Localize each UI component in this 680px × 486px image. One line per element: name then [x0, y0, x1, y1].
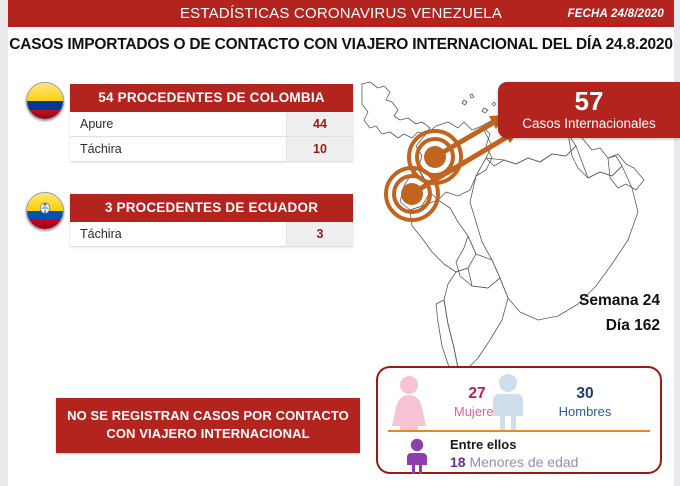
international-cases-box: 57 Casos Internacionales — [498, 82, 680, 138]
minors-intro: Entre ellos — [450, 436, 578, 453]
day-label: Día 162 — [579, 313, 660, 338]
ecuador-flag-icon — [26, 192, 64, 230]
no-contact-banner: NO SE REGISTRAN CASOS POR CONTACTO CON V… — [56, 398, 360, 453]
gender-divider — [388, 430, 650, 432]
minors-count: 18 — [450, 454, 466, 470]
state-name: Táchira — [70, 222, 286, 246]
header-bar: ESTADÍSTICAS CORONAVIRUS VENEZUELA FECHA… — [8, 0, 674, 27]
child-figure-icon — [402, 438, 432, 474]
table-row: Táchira 3 — [70, 222, 353, 246]
male-label: Hombres — [542, 403, 628, 420]
state-value: 44 — [286, 112, 353, 136]
page-subtitle: CASOS IMPORTADOS O DE CONTACTO CON VIAJE… — [8, 36, 674, 54]
table-row: Táchira 10 — [70, 137, 353, 161]
state-value: 3 — [286, 222, 353, 246]
table-colombia-heading: 54 PROCEDENTES DE COLOMBIA — [70, 84, 353, 112]
female-figure-icon — [386, 374, 432, 432]
minors-stat: Entre ellos 18 Menores de edad — [450, 436, 578, 472]
table-row: Apure 44 — [70, 112, 353, 137]
table-ecuador: 3 PROCEDENTES DE ECUADOR Táchira 3 — [70, 194, 353, 246]
state-value: 10 — [286, 137, 353, 161]
header-date: FECHA 24/8/2020 — [567, 8, 664, 20]
table-ecuador-heading: 3 PROCEDENTES DE ECUADOR — [70, 194, 353, 222]
ecuador-origin-marker — [386, 168, 438, 220]
male-count: 30 — [542, 384, 628, 403]
male-stat: 30 Hombres — [542, 384, 628, 420]
week-label: Semana 24 — [579, 288, 660, 313]
male-figure-icon — [486, 372, 530, 432]
international-cases-count: 57 — [575, 88, 604, 114]
no-contact-line-1: NO SE REGISTRAN CASOS POR CONTACTO — [62, 407, 354, 425]
period-info: Semana 24 Día 162 — [579, 288, 660, 338]
state-name: Apure — [70, 112, 286, 136]
international-cases-label: Casos Internacionales — [522, 115, 656, 132]
colombia-flag-icon — [26, 82, 64, 120]
infographic-root: ESTADÍSTICAS CORONAVIRUS VENEZUELA FECHA… — [0, 0, 680, 486]
gender-breakdown-box: 27 Mujeres 30 Hombres Entre ellos 18 Men — [376, 366, 662, 474]
no-contact-line-2: CON VIAJERO INTERNACIONAL — [62, 425, 354, 443]
minors-label: Menores de edad — [469, 454, 578, 470]
table-colombia: 54 PROCEDENTES DE COLOMBIA Apure 44 Tách… — [70, 84, 353, 161]
state-name: Táchira — [70, 137, 286, 161]
